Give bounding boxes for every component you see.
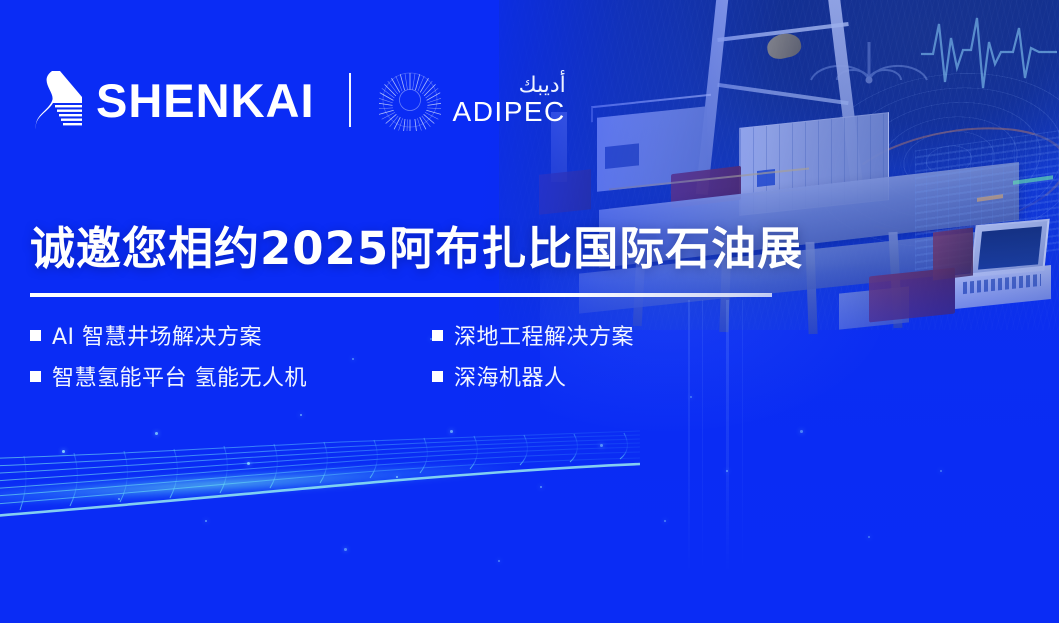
feature-item-deep-sea-robot: 深海机器人	[432, 355, 634, 396]
shenkai-logo-mark	[30, 71, 82, 129]
feature-item-deep-earth-engineering: 深地工程解决方案	[432, 314, 634, 355]
feature-item-hydrogen-platform: 智慧氢能平台 氢能无人机	[30, 355, 432, 396]
adipec-radial-mark	[379, 69, 441, 131]
logo-row: SHENKAI	[30, 62, 566, 138]
logo-divider	[349, 73, 351, 127]
adipec-logo[interactable]: أديبك ADIPEC	[379, 69, 566, 131]
adipec-arabic-text: أديبك	[519, 75, 566, 97]
feature-list: AI 智慧井场解决方案 深地工程解决方案 智慧氢能平台 氢能无人机 深海机器人	[30, 314, 634, 396]
shenkai-logo[interactable]: SHENKAI	[30, 71, 315, 129]
shenkai-wordmark: SHENKAI	[96, 77, 315, 124]
adipec-english-text: ADIPEC	[453, 98, 566, 126]
feature-label: AI 智慧井场解决方案	[52, 319, 262, 351]
adipec-promo-banner: SHENKAI	[0, 0, 1059, 623]
square-bullet-icon	[30, 330, 41, 341]
title-separator-rule	[30, 293, 772, 297]
banner-content: SHENKAI	[0, 0, 1059, 623]
page-title: 诚邀您相约2025阿布扎比国际石油展	[30, 224, 803, 274]
square-bullet-icon	[432, 371, 443, 382]
feature-label: 深地工程解决方案	[454, 319, 634, 351]
feature-label: 深海机器人	[454, 360, 567, 392]
feature-item-ai-smart-wellsite: AI 智慧井场解决方案	[30, 314, 432, 355]
adipec-wordmark: أديبك ADIPEC	[453, 75, 566, 126]
feature-label: 智慧氢能平台 氢能无人机	[52, 360, 307, 392]
square-bullet-icon	[432, 330, 443, 341]
square-bullet-icon	[30, 371, 41, 382]
